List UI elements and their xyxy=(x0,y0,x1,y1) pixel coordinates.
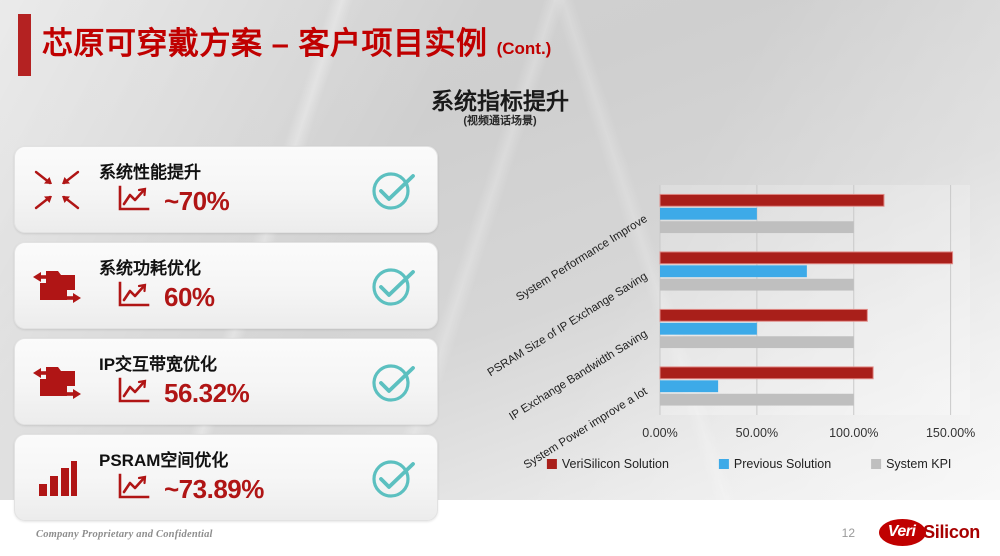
chart-bar xyxy=(660,194,884,206)
metric-card-value: 60% xyxy=(164,282,215,312)
metric-card-body: PSRAM空间优化 ~73.89% xyxy=(99,450,351,506)
metric-card-value-row: 56.32% xyxy=(99,377,347,410)
slide: 芯原可穿戴方案 – 客户项目实例 (Cont.) 系统指标提升 (视频通话场景) xyxy=(0,0,1000,556)
line-chart-up-icon xyxy=(117,473,150,506)
bar-chart-icon xyxy=(15,457,99,499)
x-tick-label: 0.00% xyxy=(642,426,677,440)
page-number: 12 xyxy=(842,526,855,540)
chart-bar xyxy=(660,252,953,264)
verisilicon-logo: Veri Silicon xyxy=(879,518,980,546)
line-chart-up-icon xyxy=(117,281,150,314)
folder-exchange-icon xyxy=(15,263,99,309)
metric-card-list: 系统性能提升 ~70% xyxy=(14,146,438,530)
logo-ellipse-icon: Veri xyxy=(879,519,926,546)
metric-card-body: IP交互带宽优化 56.32% xyxy=(99,354,351,410)
title-accent-bar xyxy=(18,14,31,76)
metric-card-label: IP交互带宽优化 xyxy=(99,354,347,376)
x-tick-label: 50.00% xyxy=(736,426,778,440)
legend-swatch xyxy=(547,459,557,469)
legend-swatch xyxy=(871,459,881,469)
converge-arrows-icon xyxy=(15,167,99,213)
page-title: 芯原可穿戴方案 – 客户项目实例 (Cont.) xyxy=(42,22,551,71)
metric-card-value: ~73.89% xyxy=(164,474,264,504)
metric-card-label: 系统功耗优化 xyxy=(99,258,347,280)
metric-card[interactable]: 系统性能提升 ~70% xyxy=(14,146,438,233)
chart-bar xyxy=(660,221,854,233)
metric-card-value: 56.32% xyxy=(164,378,249,408)
chart-bar xyxy=(660,367,873,379)
page-title-suffix: (Cont.) xyxy=(497,39,552,58)
legend-label: Previous Solution xyxy=(734,457,831,471)
metric-card-value-row: ~70% xyxy=(99,185,347,218)
metric-card-value: ~70% xyxy=(164,186,229,216)
chart-bar xyxy=(660,380,718,392)
chart-bar xyxy=(660,279,854,291)
metric-card-value-row: ~73.89% xyxy=(99,473,347,506)
metric-card-body: 系统功耗优化 60% xyxy=(99,258,351,314)
x-tick-label: 150.00% xyxy=(926,426,975,440)
chart-bar xyxy=(660,323,757,335)
confidentiality-note: Company Proprietary and Confidential xyxy=(36,529,213,540)
metric-card[interactable]: IP交互带宽优化 56.32% xyxy=(14,338,438,425)
folder-exchange-icon xyxy=(15,359,99,405)
chart-bar xyxy=(660,265,807,277)
check-circle-icon xyxy=(351,359,437,405)
logo-mark-text: Veri xyxy=(888,523,918,541)
metric-card-body: 系统性能提升 ~70% xyxy=(99,162,351,218)
metric-card[interactable]: 系统功耗优化 60% xyxy=(14,242,438,329)
legend-label: VeriSilicon Solution xyxy=(562,457,669,471)
page-title-text: 芯原可穿戴方案 – 客户项目实例 xyxy=(42,26,487,61)
horizontal-bar-chart: System Performance ImprovePSRAM Size of … xyxy=(470,175,990,500)
category-label: PSRAM Size of IP Exchange Saving xyxy=(486,271,650,380)
chart-bar xyxy=(660,394,854,406)
metric-card[interactable]: PSRAM空间优化 ~73.89% xyxy=(14,434,438,521)
legend-label: System KPI xyxy=(886,457,951,471)
chart-canvas: System Performance ImprovePSRAM Size of … xyxy=(470,175,990,500)
metric-card-label: 系统性能提升 xyxy=(99,162,347,184)
legend-swatch xyxy=(719,459,729,469)
metric-card-label: PSRAM空间优化 xyxy=(99,450,347,472)
check-circle-icon xyxy=(351,455,437,501)
chart-bar xyxy=(660,309,867,321)
chart-bar xyxy=(660,336,854,348)
subtitle-note: (视频通话场景) xyxy=(0,112,1000,128)
metric-card-value-row: 60% xyxy=(99,281,347,314)
chart-bar xyxy=(660,208,757,220)
line-chart-up-icon xyxy=(117,185,150,218)
line-chart-up-icon xyxy=(117,377,150,410)
x-tick-label: 100.00% xyxy=(829,426,878,440)
check-circle-icon xyxy=(351,263,437,309)
check-circle-icon xyxy=(351,167,437,213)
subtitle: 系统指标提升 xyxy=(0,82,1000,116)
logo-wordmark: Silicon xyxy=(923,522,980,543)
